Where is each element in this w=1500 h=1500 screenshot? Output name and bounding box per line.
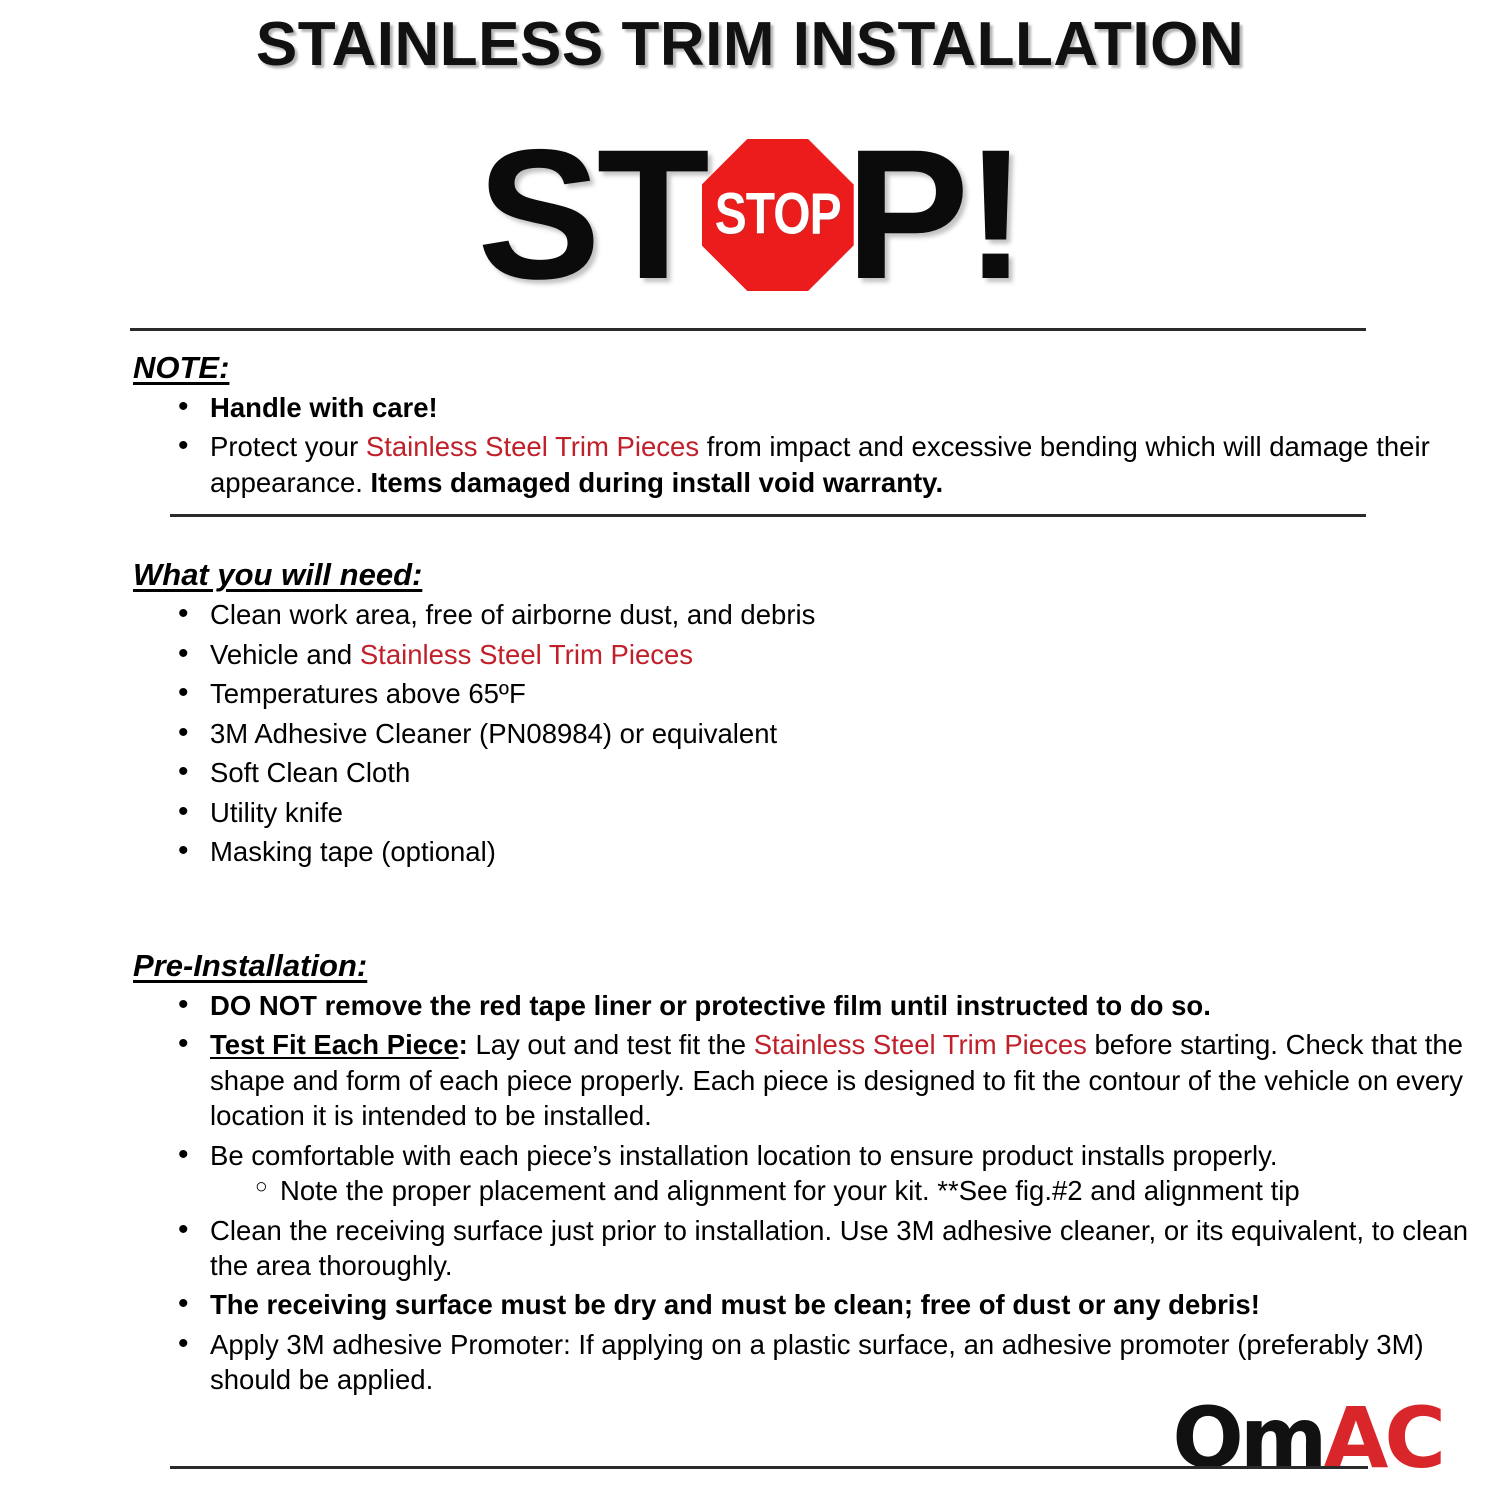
divider-note-bottom [170, 514, 1366, 517]
stop-graphic: ST STOP P! [0, 120, 1500, 310]
list-item: DO NOT remove the red tape liner or prot… [0, 988, 1500, 1023]
text-run: Note the proper placement and alignment … [280, 1175, 1300, 1206]
list-item: Temperatures above 65ºF [0, 676, 1500, 711]
list-item: Vehicle and Stainless Steel Trim Pieces [0, 637, 1500, 672]
text-run: Be comfortable with each piece’s install… [210, 1140, 1277, 1171]
text-run: Clean the receiving surface just prior t… [210, 1215, 1468, 1281]
text-run: Utility knife [210, 797, 343, 828]
text-run: Masking tape (optional) [210, 836, 496, 867]
stop-wordmark: ST STOP P! [477, 130, 1022, 300]
text-run: Protect your [210, 431, 366, 462]
text-run: Apply 3M adhesive Promoter: If applying … [210, 1329, 1424, 1395]
highlighted-term: Stainless Steel Trim Pieces [366, 431, 699, 462]
stop-left-letters: ST [477, 130, 705, 300]
page-title: STAINLESS TRIM INSTALLATION [0, 0, 1500, 76]
list-item: Protect your Stainless Steel Trim Pieces… [0, 429, 1500, 500]
bold-text: DO NOT remove the red tape liner or prot… [210, 990, 1211, 1021]
sub-list: Note the proper placement and alignment … [210, 1173, 1500, 1208]
divider-bottom [170, 1466, 1368, 1469]
list-item: Be comfortable with each piece’s install… [0, 1138, 1500, 1209]
section-heading-what-you-will-need: What you will need: [133, 557, 422, 593]
highlighted-term: Stainless Steel Trim Pieces [360, 639, 693, 670]
text-run: Clean work area, free of airborne dust, … [210, 599, 815, 630]
section-heading-pre-installation: Pre-Installation: [133, 948, 367, 984]
list-item: Masking tape (optional) [0, 834, 1500, 869]
omac-logo-red-part: AC [1323, 1389, 1442, 1487]
list-item: 3M Adhesive Cleaner (PN08984) or equival… [0, 716, 1500, 751]
pre-installation-list: DO NOT remove the red tape liner or prot… [0, 988, 1500, 1398]
list-item: Apply 3M adhesive Promoter: If applying … [0, 1327, 1500, 1398]
divider-top [130, 328, 1366, 331]
bold-text: Items damaged during install void warran… [371, 467, 944, 498]
note-list: Handle with care!Protect your Stainless … [0, 390, 1500, 500]
list-item: Test Fit Each Piece: Lay out and test fi… [0, 1027, 1500, 1133]
section-heading-note: NOTE: [133, 350, 229, 386]
stop-sign-icon: STOP [702, 139, 854, 291]
stop-right-letters: P! [846, 130, 1023, 300]
list-item: Clean the receiving surface just prior t… [0, 1213, 1500, 1284]
section-what-you-will-need: What you will need: Clean work area, fre… [0, 535, 1500, 869]
bold-text: Handle with care! [210, 392, 438, 423]
sub-list-item: Note the proper placement and alignment … [210, 1173, 1500, 1208]
text-run: Lay out and test fit the [475, 1029, 753, 1060]
text-run: Vehicle and [210, 639, 360, 670]
text-run: Temperatures above 65ºF [210, 678, 526, 709]
list-item: Soft Clean Cloth [0, 755, 1500, 790]
section-pre-installation: Pre-Installation: DO NOT remove the red … [0, 926, 1500, 1398]
bold-text: The receiving surface must be dry and mu… [210, 1289, 1260, 1320]
list-item: The receiving surface must be dry and mu… [0, 1287, 1500, 1322]
section-note: NOTE: Handle with care!Protect your Stai… [0, 328, 1500, 517]
text-run: 3M Adhesive Cleaner (PN08984) or equival… [210, 718, 777, 749]
stop-sign-label: STOP [715, 186, 841, 245]
omac-logo-black-part: Om [1172, 1389, 1323, 1487]
highlighted-term: Stainless Steel Trim Pieces [754, 1029, 1087, 1060]
what-you-will-need-list: Clean work area, free of airborne dust, … [0, 597, 1500, 869]
document-body: NOTE: Handle with care!Protect your Stai… [0, 328, 1500, 1398]
emphasized-label: Test Fit Each Piece [210, 1029, 459, 1060]
list-item: Clean work area, free of airborne dust, … [0, 597, 1500, 632]
list-item: Utility knife [0, 795, 1500, 830]
text-run: Soft Clean Cloth [210, 757, 410, 788]
bold-text: : [459, 1029, 476, 1060]
list-item: Handle with care! [0, 390, 1500, 425]
